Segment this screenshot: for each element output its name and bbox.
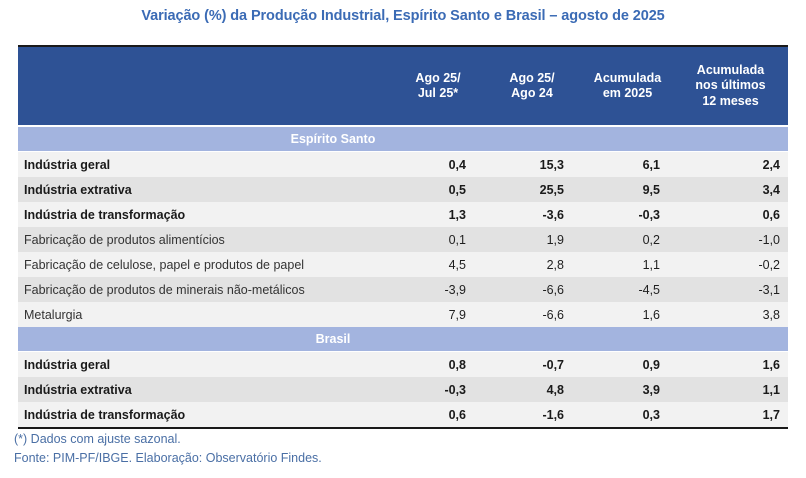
table-row: Fabricação de produtos de minerais não-m… bbox=[18, 277, 788, 302]
page-title: Variação (%) da Produção Industrial, Esp… bbox=[18, 8, 788, 24]
column-header-line: Ago 25/ bbox=[400, 71, 476, 87]
cell-value: -6,6 bbox=[494, 302, 584, 327]
cell-value: 1,3 bbox=[400, 202, 494, 227]
cell-value: -3,9 bbox=[400, 277, 494, 302]
row-label: Fabricação de celulose, papel e produtos… bbox=[18, 252, 400, 277]
column-header-line: Acumulada bbox=[584, 71, 671, 87]
cell-value: 0,8 bbox=[400, 352, 494, 378]
cell-value: -0,3 bbox=[400, 377, 494, 402]
row-label: Indústria geral bbox=[18, 152, 400, 178]
cell-value: 0,4 bbox=[400, 152, 494, 178]
column-header-line: Ago 24 bbox=[494, 86, 570, 102]
cell-value: -0,7 bbox=[494, 352, 584, 378]
row-label: Indústria extrativa bbox=[18, 177, 400, 202]
column-header-line: em 2025 bbox=[584, 86, 671, 102]
cell-value: 25,5 bbox=[494, 177, 584, 202]
row-label: Indústria de transformação bbox=[18, 202, 400, 227]
cell-value: 2,4 bbox=[685, 152, 788, 178]
cell-value: 3,8 bbox=[685, 302, 788, 327]
cell-value: 4,5 bbox=[400, 252, 494, 277]
section-header-row: Brasil bbox=[18, 327, 788, 352]
cell-value: -4,5 bbox=[584, 277, 685, 302]
column-header-line: Acumulada bbox=[685, 63, 776, 79]
cell-value: 4,8 bbox=[494, 377, 584, 402]
table-row: Indústria extrativa0,525,59,53,4 bbox=[18, 177, 788, 202]
table-row: Fabricação de produtos alimentícios0,11,… bbox=[18, 227, 788, 252]
cell-value: 6,1 bbox=[584, 152, 685, 178]
column-header-last-12-months: Acumulada nos últimos 12 meses bbox=[685, 47, 788, 126]
table-body: Espírito SantoIndústria geral0,415,36,12… bbox=[18, 126, 788, 427]
column-header-line: Ago 25/ bbox=[494, 71, 570, 87]
table-figure: Variação (%) da Produção Industrial, Esp… bbox=[0, 0, 806, 478]
cell-value: 1,7 bbox=[685, 402, 788, 427]
cell-value: 3,4 bbox=[685, 177, 788, 202]
column-header-line: 12 meses bbox=[685, 94, 776, 110]
table-header: Ago 25/ Jul 25* Ago 25/ Ago 24 Acumulada… bbox=[18, 47, 788, 126]
footnotes: (*) Dados com ajuste sazonal. Fonte: PIM… bbox=[14, 430, 322, 468]
table-row: Fabricação de celulose, papel e produtos… bbox=[18, 252, 788, 277]
cell-value: -3,1 bbox=[685, 277, 788, 302]
row-label: Fabricação de produtos de minerais não-m… bbox=[18, 277, 400, 302]
column-header-month-over-month: Ago 25/ Jul 25* bbox=[400, 47, 494, 126]
cell-value: 15,3 bbox=[494, 152, 584, 178]
column-header-line: Jul 25* bbox=[400, 86, 476, 102]
row-label: Metalurgia bbox=[18, 302, 400, 327]
cell-value: -0,3 bbox=[584, 202, 685, 227]
table-row: Indústria geral0,415,36,12,4 bbox=[18, 152, 788, 178]
cell-value: -3,6 bbox=[494, 202, 584, 227]
cell-value: 1,6 bbox=[584, 302, 685, 327]
cell-value: 1,9 bbox=[494, 227, 584, 252]
cell-value: 9,5 bbox=[584, 177, 685, 202]
table-row: Indústria geral0,8-0,70,91,6 bbox=[18, 352, 788, 378]
cell-value: 0,2 bbox=[584, 227, 685, 252]
footnote-seasonal-adjustment: (*) Dados com ajuste sazonal. bbox=[14, 430, 322, 449]
cell-value: 1,1 bbox=[685, 377, 788, 402]
cell-value: -1,6 bbox=[494, 402, 584, 427]
table-row: Indústria de transformação1,3-3,6-0,30,6 bbox=[18, 202, 788, 227]
cell-value: 1,1 bbox=[584, 252, 685, 277]
section-header-row: Espírito Santo bbox=[18, 126, 788, 152]
cell-value: -0,2 bbox=[685, 252, 788, 277]
data-table: Ago 25/ Jul 25* Ago 25/ Ago 24 Acumulada… bbox=[18, 47, 788, 427]
cell-value: 3,9 bbox=[584, 377, 685, 402]
table-row: Indústria extrativa-0,34,83,91,1 bbox=[18, 377, 788, 402]
cell-value: 0,6 bbox=[685, 202, 788, 227]
section-title: Espírito Santo bbox=[18, 126, 788, 152]
column-header-year-over-year: Ago 25/ Ago 24 bbox=[494, 47, 584, 126]
cell-value: 0,1 bbox=[400, 227, 494, 252]
row-label: Fabricação de produtos alimentícios bbox=[18, 227, 400, 252]
cell-value: -1,0 bbox=[685, 227, 788, 252]
section-title: Brasil bbox=[18, 327, 788, 352]
column-header-label bbox=[18, 47, 400, 126]
cell-value: 7,9 bbox=[400, 302, 494, 327]
cell-value: 0,6 bbox=[400, 402, 494, 427]
data-table-container: Ago 25/ Jul 25* Ago 25/ Ago 24 Acumulada… bbox=[18, 45, 788, 429]
cell-value: -6,6 bbox=[494, 277, 584, 302]
column-header-line: nos últimos bbox=[685, 78, 776, 94]
column-header-ytd-2025: Acumulada em 2025 bbox=[584, 47, 685, 126]
row-label: Indústria de transformação bbox=[18, 402, 400, 427]
footnote-source: Fonte: PIM-PF/IBGE. Elaboração: Observat… bbox=[14, 449, 322, 468]
row-label: Indústria geral bbox=[18, 352, 400, 378]
cell-value: 1,6 bbox=[685, 352, 788, 378]
cell-value: 2,8 bbox=[494, 252, 584, 277]
table-row: Indústria de transformação0,6-1,60,31,7 bbox=[18, 402, 788, 427]
cell-value: 0,3 bbox=[584, 402, 685, 427]
cell-value: 0,5 bbox=[400, 177, 494, 202]
row-label: Indústria extrativa bbox=[18, 377, 400, 402]
table-header-row: Ago 25/ Jul 25* Ago 25/ Ago 24 Acumulada… bbox=[18, 47, 788, 126]
cell-value: 0,9 bbox=[584, 352, 685, 378]
table-row: Metalurgia7,9-6,61,63,8 bbox=[18, 302, 788, 327]
